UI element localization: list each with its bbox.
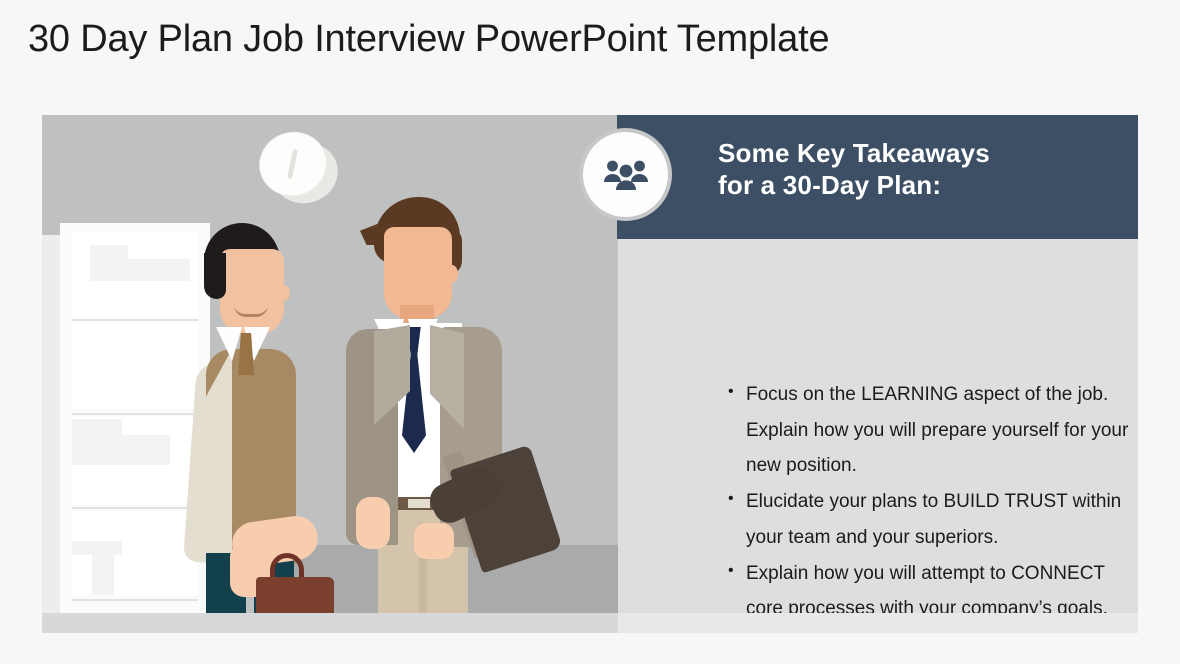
group-of-people-icon: [603, 158, 649, 192]
takeaways-list: Focus on the LEARNING aspect of the job.…: [726, 377, 1138, 627]
group-of-people-icon-badge: [579, 128, 672, 221]
shelf-contents: [92, 553, 114, 595]
header-title-line-2: for a 30-Day Plan:: [718, 170, 1118, 202]
interviewer-shaking-hand: [356, 497, 390, 549]
cabinet-shelf: [72, 507, 198, 509]
content-panel-footer-strip: [618, 613, 1138, 633]
wall-lamp: [258, 133, 340, 207]
illustration-footer-strip: [42, 613, 618, 633]
shelf-contents: [110, 435, 170, 465]
interviewer-hand: [414, 523, 454, 559]
interviewer-figure: [334, 197, 554, 633]
business-handshake-illustration: [42, 115, 618, 633]
shelf-contents: [72, 323, 198, 409]
candidate-hair-sideburn: [204, 253, 226, 299]
page-title: 30 Day Plan Job Interview PowerPoint Tem…: [28, 18, 829, 61]
candidate-face: [220, 249, 284, 335]
cabinet-side-panel: [42, 235, 60, 621]
slide-page: 30 Day Plan Job Interview PowerPoint Tem…: [0, 0, 1180, 664]
list-item: Focus on the LEARNING aspect of the job.…: [726, 377, 1138, 484]
cabinet-shelf: [72, 319, 198, 321]
interviewer-ear: [446, 265, 458, 283]
interviewer-belt-buckle: [408, 499, 430, 508]
shelf-contents: [72, 541, 122, 555]
cabinet-shelf: [72, 413, 198, 415]
cabinet-shelf: [72, 599, 198, 601]
candidate-ear: [278, 285, 290, 301]
header-title-line-1: Some Key Takeaways: [718, 138, 1118, 170]
list-item: Elucidate your plans to BUILD TRUST with…: [726, 484, 1138, 555]
shelf-contents: [122, 259, 190, 281]
takeaways-header-title: Some Key Takeaways for a 30-Day Plan:: [718, 138, 1118, 201]
